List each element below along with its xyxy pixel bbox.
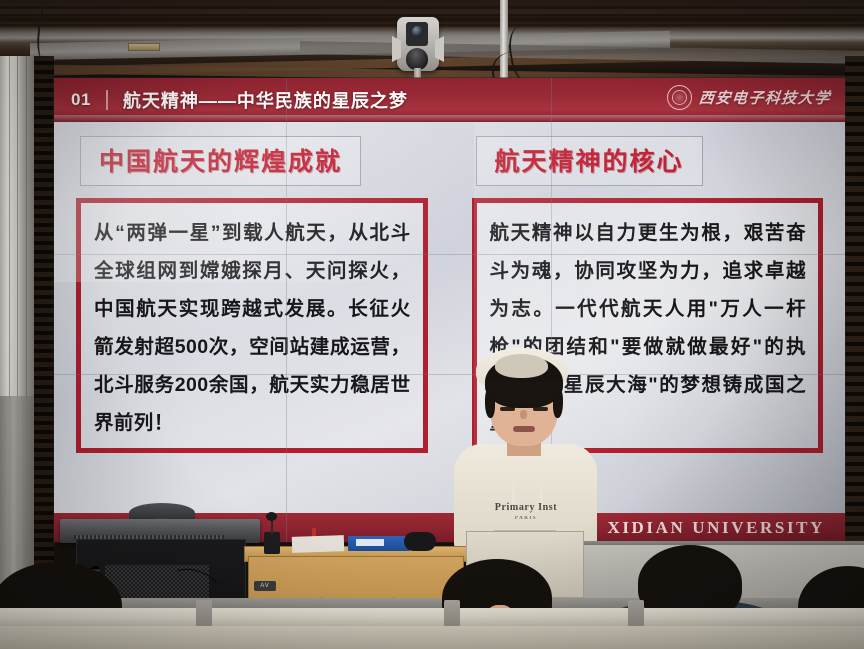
slatted-wall-left — [34, 56, 54, 649]
blue-folder — [348, 536, 410, 551]
microphone-icon — [266, 512, 277, 521]
room-pillar — [0, 56, 34, 649]
slide-title: 航天精神——中华民族的星辰之梦 — [123, 87, 408, 113]
presenter-mouth — [513, 426, 535, 432]
slide-header: 01 航天精神——中华民族的星辰之梦 西安电子科技大学 — [54, 78, 845, 122]
ceiling-plate — [128, 43, 160, 51]
camera-lens-housing — [406, 22, 428, 46]
slide-section-number: 01 — [71, 90, 91, 110]
column-heading-right: 航天精神的核心 — [476, 136, 703, 186]
lecture-hall-scene: 01 航天精神——中华民族的星辰之梦 西安电子科技大学 中国航天的辉煌成就 从“… — [0, 0, 864, 649]
presenter-nose — [520, 410, 527, 419]
lectern-desktop-items — [252, 524, 452, 558]
hoodie-logo-text: Primary Inst PARIS — [485, 502, 567, 524]
camera-lens-icon — [412, 26, 423, 37]
slide-footer-university: XIDIAN UNIVERSITY — [607, 518, 825, 538]
column-heading-right-text: 航天精神的核心 — [495, 148, 684, 176]
lectern-badge: AV — [254, 581, 276, 591]
slide-column-left: 中国航天的辉煌成就 从“两弹一星”到载人航天，从北斗全球组网到嫦娥探月、天问探火… — [54, 122, 450, 513]
bench-front-lower — [0, 626, 864, 649]
bench-front — [0, 608, 864, 628]
university-crest-icon — [667, 85, 692, 110]
ceiling-camera-icon — [397, 17, 439, 71]
paper-sheet — [292, 535, 345, 553]
header-divider — [106, 90, 108, 110]
university-logo-text: 西安电子科技大学 — [698, 87, 832, 108]
column-heading-left-text: 中国航天的辉煌成就 — [99, 148, 342, 176]
university-logo: 西安电子科技大学 — [667, 85, 831, 110]
camera-dome-icon — [406, 48, 428, 70]
column-body-box-left: 从“两弹一星”到载人航天，从北斗全球组网到嫦娥探月、天问探火，中国航天实现跨越式… — [76, 198, 428, 453]
microphone-base — [264, 532, 280, 554]
presenter: Primary Inst PARIS — [449, 352, 601, 549]
black-device — [404, 532, 436, 551]
column-heading-left: 中国航天的辉煌成就 — [80, 136, 361, 186]
column-body-left-text: 从“两弹一星”到载人航天，从北斗全球组网到嫦娥探月、天问探火，中国航天实现跨越式… — [94, 214, 411, 442]
